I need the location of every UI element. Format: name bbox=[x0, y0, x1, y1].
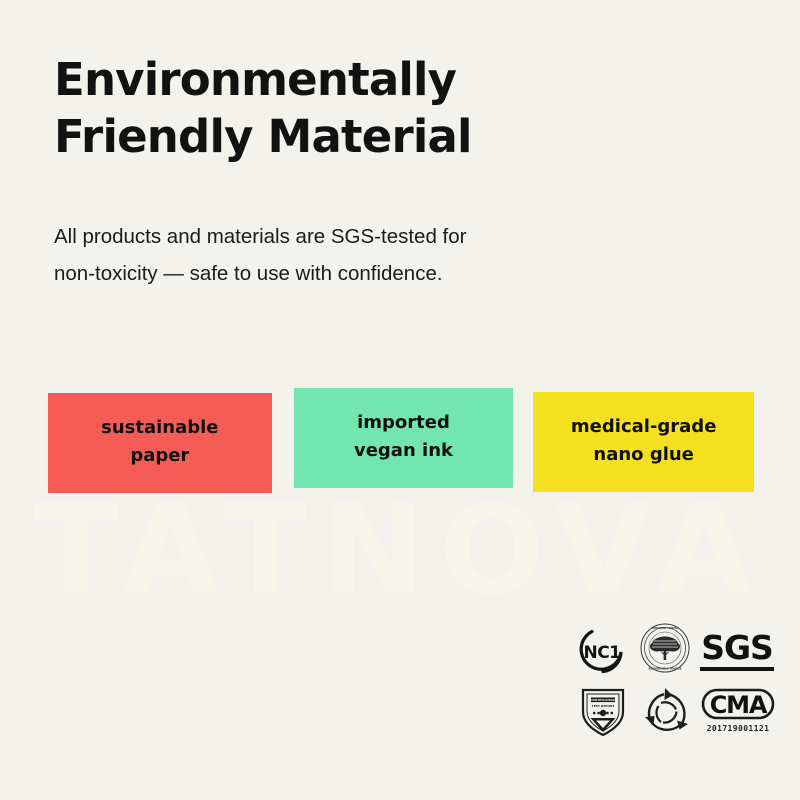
nc1-certification-icon: NC1 bbox=[574, 624, 632, 676]
svg-text:CERTIFICATION: CERTIFICATION bbox=[591, 698, 615, 702]
badge-medical-grade-nano-glue-line-1: medical-grade bbox=[571, 413, 716, 441]
page-title-line-2: Friendly Material bbox=[54, 109, 574, 166]
recycling-arrows-icon bbox=[636, 684, 696, 738]
cma-logo-icon: CMA 201719001121 bbox=[698, 682, 778, 738]
badge-sustainable-paper-line-2: paper bbox=[130, 442, 189, 470]
badge-imported-vegan-ink-line-2: vegan ink bbox=[354, 437, 453, 465]
certification-row-1: NC1 bbox=[574, 618, 780, 676]
sgs-logo-icon: SGS bbox=[698, 626, 776, 676]
svg-text:TEST REPORT: TEST REPORT bbox=[592, 704, 616, 708]
material-badge-row: sustainable paper imported vegan ink med… bbox=[48, 388, 754, 493]
badge-imported-vegan-ink-line-1: imported bbox=[357, 409, 450, 437]
page-subtitle-line-1: All products and materials are SGS-teste… bbox=[54, 219, 654, 255]
svg-text:CERTIFIED FOREST: CERTIFIED FOREST bbox=[651, 626, 678, 630]
page-title-line-1: Environmentally bbox=[54, 52, 574, 109]
svg-text:CMA: CMA bbox=[710, 691, 768, 719]
badge-medical-grade-nano-glue: medical-grade nano glue bbox=[533, 392, 754, 492]
certification-row-2: CERTIFICATION TEST REPORT bbox=[574, 680, 780, 738]
fsc-tree-seal-icon: CERTIFIED FOREST RESPONSIBLE SOURCE bbox=[634, 620, 696, 676]
svg-text:NC1: NC1 bbox=[583, 643, 620, 663]
page-title: Environmentally Friendly Material bbox=[54, 0, 574, 165]
badge-medical-grade-nano-glue-line-2: nano glue bbox=[593, 441, 694, 469]
page-subtitle: All products and materials are SGS-teste… bbox=[54, 219, 654, 292]
sgs-logo-underline bbox=[700, 667, 774, 671]
badge-imported-vegan-ink: imported vegan ink bbox=[294, 388, 514, 488]
badge-sustainable-paper: sustainable paper bbox=[48, 393, 272, 493]
svg-text:RESPONSIBLE SOURCE: RESPONSIBLE SOURCE bbox=[649, 667, 682, 671]
brand-watermark: TATNOVA bbox=[0, 486, 800, 616]
shield-certification-icon: CERTIFICATION TEST REPORT bbox=[574, 684, 632, 738]
sgs-logo-text: SGS bbox=[700, 631, 774, 664]
badge-sustainable-paper-line-1: sustainable bbox=[101, 414, 218, 442]
cma-licence-number: 201719001121 bbox=[707, 724, 770, 733]
content-area: Environmentally Friendly Material All pr… bbox=[0, 0, 800, 292]
page-subtitle-line-2: non-toxicity — safe to use with confiden… bbox=[54, 256, 654, 292]
certification-marks: NC1 bbox=[574, 618, 780, 738]
